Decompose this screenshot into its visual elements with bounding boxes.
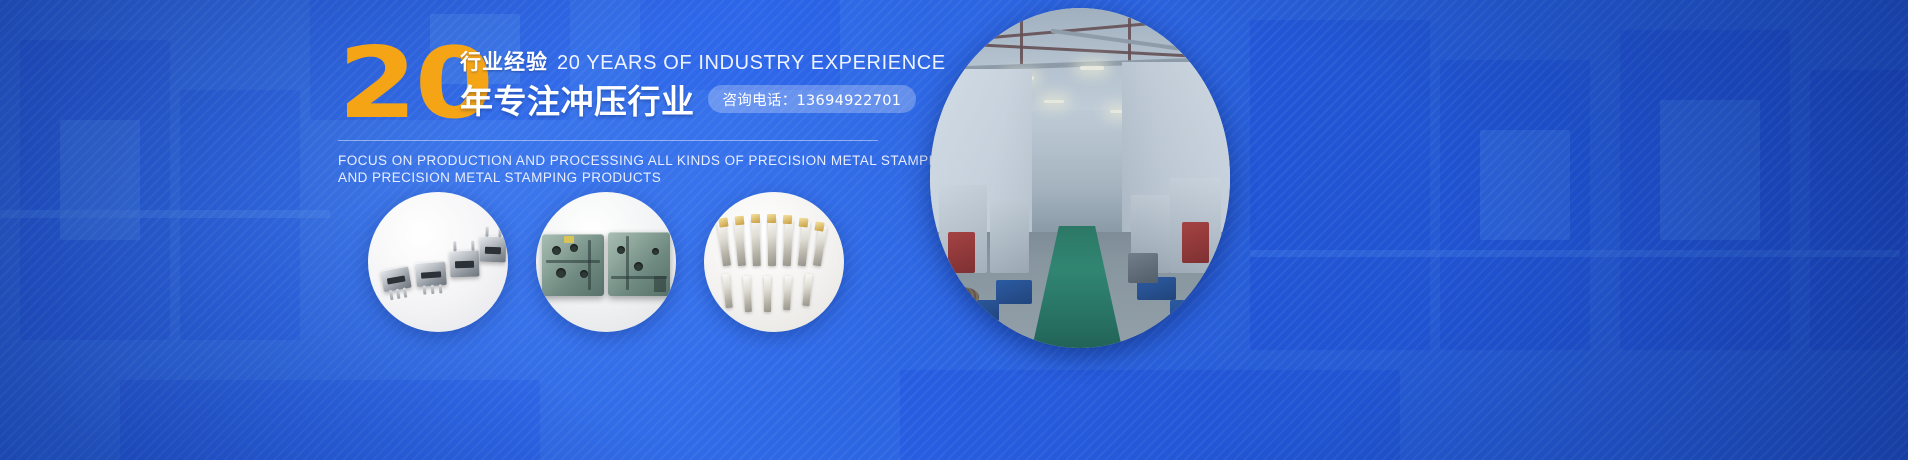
product-circle-stamping-mold <box>536 192 676 332</box>
mold-block-left <box>542 234 604 296</box>
metal-terminal <box>768 218 776 266</box>
headline-line-2: 年专注冲压行业 咨询电话：13694922701 <box>460 79 900 119</box>
product-circle-usb-connectors <box>368 192 508 332</box>
usb-connector-icon <box>450 250 480 278</box>
subtitle-paragraph: FOCUS ON PRODUCTION AND PROCESSING ALL K… <box>338 152 898 186</box>
usb-connector-icon <box>480 236 507 263</box>
promo-banner: 20 行业经验 20 YEARS OF INDUSTRY EXPERIENCE … <box>0 0 1908 460</box>
mold-block-right <box>608 232 670 296</box>
headline-en-small: 20 YEARS OF INDUSTRY EXPERIENCE <box>557 52 946 75</box>
factory-photo-circle <box>930 8 1230 348</box>
subtitle-line-1: FOCUS ON PRODUCTION AND PROCESSING ALL K… <box>338 152 898 169</box>
metal-terminal <box>764 276 771 312</box>
headline-line-1: 行业经验 20 YEARS OF INDUSTRY EXPERIENCE <box>460 46 900 72</box>
headline-cn-small: 行业经验 <box>460 46 548 76</box>
headline-lines: 行业经验 20 YEARS OF INDUSTRY EXPERIENCE 年专注… <box>460 46 900 119</box>
headline-row: 20 行业经验 20 YEARS OF INDUSTRY EXPERIENCE … <box>338 40 898 128</box>
usb-connector-icon <box>415 261 447 287</box>
product-circle-metal-terminals <box>704 192 844 332</box>
headline-cn-large: 年专注冲压行业 <box>460 75 695 123</box>
phone-badge[interactable]: 咨询电话：13694922701 <box>708 85 917 113</box>
metal-terminal <box>751 218 761 266</box>
subtitle-line-2: AND PRECISION METAL STAMPING PRODUCTS <box>338 169 898 186</box>
headline-block: 20 行业经验 20 YEARS OF INDUSTRY EXPERIENCE … <box>338 40 898 186</box>
